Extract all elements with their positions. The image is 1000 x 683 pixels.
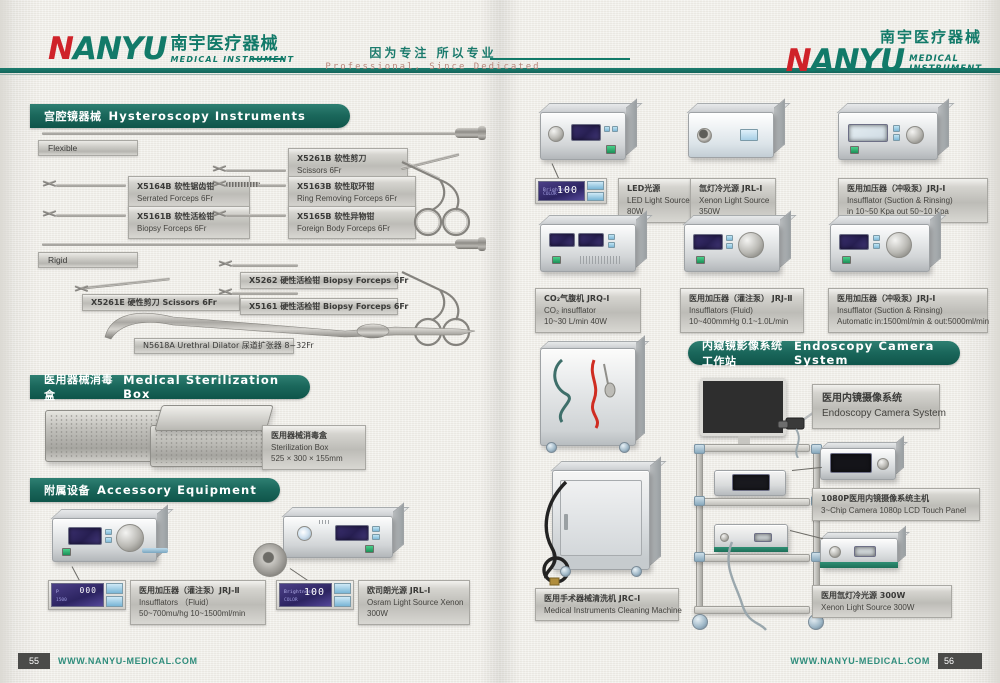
caption-x5161b: X5161B 软性活检钳 Biopsy Forceps 6Fr (128, 206, 250, 239)
device-suction1-screen (848, 124, 888, 142)
caption-x5164b: X5164B 软性锯齿钳 Serrated Forceps 6Fr (128, 176, 250, 209)
readout-led-color-label: COLOR (543, 192, 557, 197)
readout-brightness-value: 100 (304, 587, 325, 598)
device-osram-side (393, 502, 404, 553)
instrument-shaft-biopsy-flex (56, 214, 126, 217)
instrument-shaft-serrated (56, 184, 126, 187)
tab-rigid-label: Rigid (48, 255, 67, 265)
tab-rigid: Rigid (38, 252, 138, 268)
device-trolley-xenon-display (854, 546, 876, 557)
page-edge-left (0, 0, 14, 683)
footer-right: WWW.NANYU-MEDICAL.COM 56 (790, 653, 982, 669)
device-co2-side (636, 210, 647, 267)
device-osram-lamp-port (297, 526, 312, 541)
caption-camera-console: 1080P医用内镜摄像系统主机 3~Chip Camera 1080p LCD … (812, 488, 980, 521)
device-clean2-caster-right (631, 566, 642, 577)
brand-right-row: NANYU MEDICAL INSTRUMENT (786, 46, 982, 77)
rigid-scope-rod (42, 243, 462, 246)
trolley-light-cable (726, 538, 796, 634)
light-guide-adapter (253, 543, 287, 577)
device-osram-btn1 (372, 526, 380, 532)
caption-led-en: LED Light Source (627, 195, 691, 207)
caption-cleaning-en: Medical Instruments Cleaning Machine (544, 605, 670, 617)
device-camera-console (820, 448, 896, 480)
caption-x5165b-cn: X5165B 软性异物钳 (297, 211, 407, 223)
readout-osram: Brightness 100 COLOR (276, 580, 354, 610)
readout-led-key-down[interactable] (587, 192, 604, 201)
tab-flexible: Flexible (38, 140, 138, 156)
caption-camera-console-cn: 1080P医用内镜摄像系统主机 (821, 493, 971, 505)
device-co2-btn2 (608, 242, 615, 248)
device-xenon-port (697, 128, 712, 143)
instrument-shaft-scissors (226, 169, 286, 172)
instrument-shaft-x5262 (232, 264, 298, 267)
footer-site-left[interactable]: WWW.NANYU-MEDICAL.COM (58, 656, 198, 666)
caption-x5161b-en: Biopsy Forceps 6Fr (137, 223, 241, 235)
section-header-camera-cn: 内窥镜影像系统工作站 (702, 337, 787, 369)
section-header-accessory: 附属设备 Accessory Equipment (30, 478, 280, 502)
brand-tagline: 因为专注 所以专业 Professional, Since Dedicated (250, 44, 570, 72)
device-clean1-side (636, 335, 645, 441)
caption-x5261b-en: Scissors 6Fr (297, 165, 399, 177)
trolley-camera-processor-screen (732, 474, 770, 491)
device-osram-vent (319, 520, 331, 524)
tab-flexible-label: Flexible (48, 143, 77, 153)
caption-accessory-insufflator-en: Insufflators （Fluid） (139, 597, 257, 609)
section-header-sterilization: 医用器械消毒盒 Medical Sterilization Box (30, 375, 310, 399)
device-suction2-btn2 (873, 243, 880, 249)
caption-trolley-xenon-en: Xenon Light Source 300W (821, 602, 943, 614)
caption-suction2-spec: Automatic in:1500ml/min & out:5000ml/min (837, 316, 979, 328)
sterilization-box-lid-body (154, 405, 273, 431)
device-trolley-xenon-side (898, 526, 906, 563)
device-insufflator-fluid-2 (684, 224, 780, 272)
caption-suction2-en: Insufflator (Suction & Rinsing) (837, 305, 979, 317)
readout-pressure-value: 000 (80, 586, 97, 595)
readout-osram-lcd: Brightness 100 COLOR (279, 583, 332, 607)
device-clean1-caster-left (546, 442, 557, 453)
caption-x5262: X5262 硬性活检钳 Biopsy Forceps 6Fr (240, 272, 398, 289)
device-trolley-xenon (820, 538, 898, 568)
caption-fluid2-spec: 10~400mmHg 0.1~1.0L/min (689, 316, 795, 328)
device-co2-insufflator (540, 224, 636, 272)
section-header-hysteroscopy-en: Hysteroscopy Instruments (109, 109, 307, 123)
device-insufflator-fluid-port (142, 548, 168, 553)
device-suction1-side (938, 98, 949, 155)
caption-fluid2-en: Insufflators (Fluid) (689, 305, 795, 317)
section-header-sterilization-cn: 医用器械消毒盒 (44, 371, 116, 403)
caption-x5163b-cn: X5163B 软性取环钳 (297, 181, 407, 193)
caption-accessory-insufflator-spec: 50~700mu/hg 10~1500ml/min (139, 608, 257, 620)
catalog-spread: NANYU 南宇医疗器械 MEDICAL INSTRUMENT 因为专注 所以专… (0, 0, 1000, 683)
device-co2-body (540, 224, 636, 272)
device-insufflator-fluid-btn1 (105, 529, 112, 535)
device-insufflator-fluid-knob (116, 524, 144, 552)
device-co2-btn1 (608, 234, 615, 240)
cleaning-machine-2-hose (536, 478, 606, 588)
device-suction2-knob (886, 232, 912, 258)
trolley-shelf-2 (694, 498, 810, 506)
device-camera-console-screen (830, 453, 872, 473)
section-header-camera-en: Endoscopy Camera System (794, 339, 942, 367)
device-cleaning-machine-2 (552, 470, 650, 570)
instrument-shaft-foreign (226, 214, 286, 217)
device-insufflator-fluid-btn2 (105, 537, 112, 543)
device-led-knob (548, 126, 564, 142)
caption-x5262-cn: X5262 硬性活检钳 Biopsy Forceps 6Fr (249, 275, 408, 287)
device-clean2-side (650, 456, 661, 565)
device-suction1-knob (906, 126, 924, 144)
footer-left: 55 WWW.NANYU-MEDICAL.COM (18, 653, 198, 669)
caption-sterilization-box: 医用器械消毒盒 Sterilization Box 525 × 300 × 15… (262, 425, 366, 470)
trolley-post-left (696, 444, 703, 614)
caption-cleaning-cn: 医用手术器械清洗机 JRC-Ⅰ (544, 593, 670, 605)
caption-co2-en: CO₂ insufflator (544, 305, 632, 317)
caption-co2-insufflator: CO₂气腹机 JRQ-Ⅰ CO₂ insufflator 10~30 L/min… (535, 288, 641, 333)
device-suction2-btn1 (873, 235, 880, 241)
readout-led-key-up[interactable] (587, 181, 604, 190)
caption-cleaning-machine: 医用手术器械清洗机 JRC-Ⅰ Medical Instruments Clea… (535, 588, 679, 621)
device-insufflator-suction-1 (838, 112, 938, 160)
device-xenon-side (774, 98, 785, 153)
caption-camera-console-en: 3~Chip Camera 1080p LCD Touch Panel (821, 505, 971, 517)
brand-right-wordmark-n: N (786, 43, 811, 79)
caption-accessory-osram-en: Osram Light Source Xenon (367, 597, 461, 609)
readout-key-up[interactable] (106, 583, 123, 594)
brand-wordmark: NANYU (48, 34, 167, 65)
caption-co2-spec: 10~30 L/min 40W (544, 316, 632, 328)
device-suction2-side (930, 210, 941, 267)
device-xenon-light-source (688, 112, 774, 158)
caption-insufflator-fluid-2: 医用加压器（灌注泵） JRJ-Ⅱ Insufflators (Fluid) 10… (680, 288, 804, 333)
page-number-right: 56 (938, 653, 982, 669)
device-suction1-btn2 (893, 134, 900, 141)
readout-key-down[interactable] (106, 596, 123, 607)
tagline-en: Professional, Since Dedicated (250, 62, 570, 72)
caption-insufflator-suction-2: 医用加压器（冲吸泵）JRJ-Ⅰ Insufflator (Suction & R… (828, 288, 988, 333)
device-co2-power (552, 256, 561, 264)
readout-insufflator-fluid: P 000 1500 (48, 580, 126, 610)
flexible-scope-rod (42, 132, 462, 135)
trolley-camera-processor (714, 470, 786, 496)
device-trolley-xenon-stripe (820, 562, 898, 568)
sterilization-box-open (150, 425, 268, 467)
brand-wordmark-rest: ANYU (73, 31, 167, 67)
section-header-hysteroscopy: 宫腔镜器械 Hysteroscopy Instruments (30, 104, 350, 128)
device-osram-screen (335, 525, 369, 541)
device-co2-screen2 (578, 233, 604, 247)
sterilization-box-open-perforation (154, 429, 264, 463)
device-fluid2-knob (738, 232, 764, 258)
readout-insufflator-fluid-keys[interactable] (106, 583, 123, 607)
caption-suction1-en: Insufflator (Suction & Rinsing) (847, 195, 979, 207)
section-header-camera-system: 内窥镜影像系统工作站 Endoscopy Camera System (688, 341, 960, 365)
device-led-power (606, 145, 616, 154)
caption-xenon-cn: 氙灯冷光源 JRL-Ⅰ (699, 183, 767, 195)
tagline-dash-left (250, 58, 284, 60)
device-led-screen (571, 124, 601, 141)
device-suction1-power (850, 146, 859, 154)
flexible-scope-connector (478, 126, 486, 140)
trolley-caster-left (692, 614, 708, 630)
readout-insufflator-fluid-lcd: P 000 1500 (51, 583, 104, 607)
device-suction2-power (842, 256, 851, 264)
device-suction2-screen (839, 234, 869, 250)
caption-camera-system-cn: 医用内镜摄像系统 (822, 392, 930, 407)
readout-led: Brightness 100 COLOR (535, 178, 607, 204)
device-clean2-caster-left (560, 566, 571, 577)
readout-osram-key-up[interactable] (334, 583, 351, 594)
trolley-clamp-l2 (694, 496, 705, 506)
page-edge-right (986, 0, 1000, 683)
device-clean1-caster-right (619, 442, 630, 453)
caption-x5163b-en: Ring Removing Forceps 6Fr (297, 193, 407, 205)
caption-fluid2-cn: 医用加压器（灌注泵） JRJ-Ⅱ (689, 293, 795, 305)
caption-accessory-osram-spec: 300W (367, 608, 461, 620)
device-fluid2-screen (693, 234, 723, 250)
readout-color-label: COLOR (284, 598, 298, 603)
readout-led-lcd: Brightness 100 COLOR (538, 181, 585, 201)
caption-sterilization-box-size: 525 × 300 × 155mm (271, 453, 357, 465)
instrument-shaft-ring (258, 184, 286, 187)
caption-trolley-xenon: 医用氙灯冷光源 300W Xenon Light Source 300W (812, 585, 952, 618)
caption-sterilization-box-cn: 医用器械消毒盒 (271, 430, 357, 442)
readout-osram-keys[interactable] (334, 583, 351, 607)
caption-suction2-cn: 医用加压器（冲吸泵）JRJ-Ⅰ (837, 293, 979, 305)
footer-site-right[interactable]: WWW.NANYU-MEDICAL.COM (790, 656, 930, 666)
section-header-sterilization-en: Medical Sterilization Box (123, 373, 292, 401)
readout-led-keys[interactable] (587, 181, 604, 201)
device-fluid2-side (780, 210, 791, 267)
caption-n5618a-cn: N5618A Urethral Dilator 尿道扩张器 8~32Fr (143, 340, 314, 352)
device-led-side (626, 98, 637, 155)
caption-sterilization-box-en: Sterilization Box (271, 442, 357, 454)
caption-camera-system-en: Endoscopy Camera System (822, 407, 930, 422)
page-header: NANYU 南宇医疗器械 MEDICAL INSTRUMENT 因为专注 所以专… (0, 0, 1000, 86)
sterilization-box-lid (154, 405, 273, 431)
trolley-clamp-l1 (694, 444, 705, 454)
caption-accessory-insufflator-cn: 医用加压器（灌注泵）JRJ-Ⅱ (139, 585, 257, 597)
readout-led-brightness-value: 100 (557, 185, 578, 196)
section-header-accessory-en: Accessory Equipment (97, 483, 257, 497)
tagline-dash-right (490, 58, 630, 60)
brand-right-wordmark: NANYU (786, 46, 905, 77)
device-insufflator-fluid-screen (68, 527, 102, 545)
device-trolley-xenon-port (829, 546, 841, 558)
caption-accessory-osram-cn: 欧司朗光源 JRL-Ⅰ (367, 585, 461, 597)
device-cleaning-machine-1 (540, 348, 636, 446)
section-header-accessory-cn: 附属设备 (44, 482, 90, 498)
rigid-scope-connector (478, 237, 486, 251)
brand-right-wordmark-rest: ANYU (811, 43, 905, 79)
trolley-clamp-l3 (694, 552, 705, 562)
section-header-hysteroscopy-cn: 宫腔镜器械 (44, 108, 102, 124)
caption-camera-system: 医用内镜摄像系统 Endoscopy Camera System (812, 384, 940, 429)
brand-right-en: MEDICAL INSTRUMENT (909, 54, 982, 75)
device-osram-btn2 (372, 534, 380, 540)
readout-flow-value: 1500 (56, 598, 67, 603)
device-camera-console-side (896, 436, 904, 475)
device-insufflator-fluid (52, 518, 157, 562)
brand-wordmark-n: N (48, 31, 73, 67)
device-co2-screen1 (549, 233, 575, 247)
device-insufflator-fluid-power (62, 548, 71, 556)
caption-x5261b-cn: X5261B 软性剪刀 (297, 153, 399, 165)
device-camera-console-port (877, 458, 889, 470)
device-xenon-panel (740, 129, 758, 141)
caption-accessory-insufflator: 医用加压器（灌注泵）JRJ-Ⅱ Insufflators （Fluid） 50~… (130, 580, 266, 625)
brand-right-en-line2: INSTRUMENT (909, 64, 982, 75)
caption-co2-cn: CO₂气腹机 JRQ-Ⅰ (544, 293, 632, 305)
device-fluid2-power (696, 256, 705, 264)
caption-xenon-en: Xenon Light Source (699, 195, 767, 207)
instrument-coil-ring (226, 182, 260, 187)
instrument-shaft-x5261e (80, 277, 170, 289)
page-number-left: 55 (18, 653, 50, 669)
device-suction1-btn1 (893, 125, 900, 132)
device-led-btn1 (604, 126, 610, 132)
readout-pressure-label: P (56, 590, 59, 595)
cleaning-machine-hoses (544, 354, 634, 440)
device-co2-vent (580, 256, 620, 264)
device-osram-power (365, 545, 374, 553)
device-led-btn2 (612, 126, 618, 132)
device-led-light-source (540, 112, 626, 160)
brand-right-en-line1: MEDICAL (909, 54, 982, 65)
device-fluid2-btn2 (726, 243, 733, 249)
caption-suction1-cn: 医用加压器（冲吸泵）JRJ-Ⅰ (847, 183, 979, 195)
device-osram-light-source (283, 516, 393, 558)
caption-accessory-osram: 欧司朗光源 JRL-Ⅰ Osram Light Source Xenon 300… (358, 580, 470, 625)
device-fluid2-btn1 (726, 235, 733, 241)
device-insufflator-suction-2 (830, 224, 930, 272)
caption-n5618a: N5618A Urethral Dilator 尿道扩张器 8~32Fr (134, 338, 294, 354)
instrument-shaft-x5161 (232, 292, 298, 295)
readout-osram-key-down[interactable] (334, 596, 351, 607)
caption-led-cn: LED光源 (627, 183, 691, 195)
brand-logo-right: 南宇医疗器械 NANYU MEDICAL INSTRUMENT (786, 30, 982, 77)
caption-x5165b-en: Foreign Body Forceps 6Fr (297, 223, 407, 235)
caption-x5164b-en: Serrated Forceps 6Fr (137, 193, 241, 205)
caption-trolley-xenon-cn: 医用氙灯冷光源 300W (821, 590, 943, 602)
